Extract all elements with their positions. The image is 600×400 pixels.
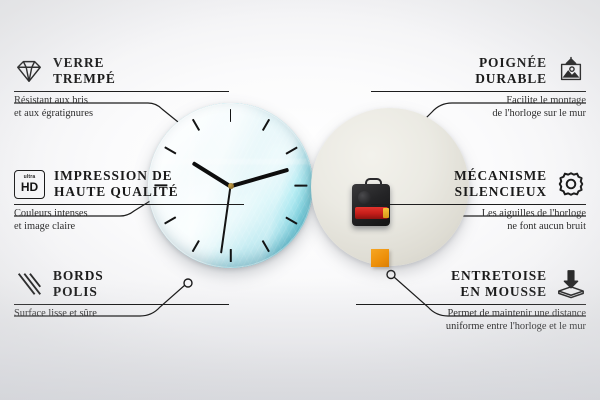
feature-header: MÉCANISME SILENCIEUX — [371, 168, 586, 200]
feature-description: Permet de maintenir une distance uniform… — [356, 308, 586, 333]
feature-header: ENTRETOISE EN MOUSSE — [356, 268, 586, 300]
title-rule — [14, 304, 229, 305]
gear-icon — [556, 169, 586, 199]
feature-description: Surface lisse et sûre — [14, 308, 229, 321]
title-rule — [14, 204, 244, 205]
foam-spacer-pad — [371, 249, 389, 267]
feature-title: BORDS POLIS — [53, 268, 104, 300]
feature-header: ultra HD IMPRESSION DE HAUTE QUALITÉ — [14, 168, 244, 200]
feature-header: VERRE TREMPÉ — [14, 55, 229, 87]
feature-title: MÉCANISME SILENCIEUX — [454, 168, 547, 200]
feature-description: Facilite le montage de l'horloge sur le … — [371, 95, 586, 120]
feature-title: ENTRETOISE EN MOUSSE — [451, 268, 547, 300]
ultra-hd-badge-icon: ultra HD — [14, 170, 45, 199]
feature-description: Résistant aux bris et aux égratignures — [14, 95, 229, 120]
hour-marker — [230, 249, 232, 262]
feature-title: POIGNÉE DURABLE — [475, 55, 547, 87]
foam-spacer-arrow-icon — [556, 269, 586, 299]
title-rule — [371, 204, 586, 205]
polished-edges-icon — [14, 269, 44, 299]
product-infographic: VERRE TREMPÉ Résistant aux bris et aux é… — [0, 0, 600, 400]
feature-header: POIGNÉE DURABLE — [371, 55, 586, 87]
feature-header: BORDS POLIS — [14, 268, 229, 300]
title-rule — [371, 91, 586, 92]
diamond-icon — [14, 56, 44, 86]
hanging-frame-icon — [556, 56, 586, 86]
feature-title: IMPRESSION DE HAUTE QUALITÉ — [54, 168, 178, 200]
feature-mecanisme-silencieux: MÉCANISME SILENCIEUX Les aiguilles de l'… — [371, 168, 586, 233]
mechanism-dial — [358, 191, 371, 204]
hour-marker — [230, 109, 232, 122]
feature-title: VERRE TREMPÉ — [53, 55, 116, 87]
title-rule — [14, 91, 229, 92]
feature-description: Couleurs intenses et image claire — [14, 208, 244, 233]
feature-impression-haute-qualite: ultra HD IMPRESSION DE HAUTE QUALITÉ Cou… — [14, 168, 244, 233]
feature-verre-trempe: VERRE TREMPÉ Résistant aux bris et aux é… — [14, 55, 229, 120]
title-rule — [356, 304, 586, 305]
feature-description: Les aiguilles de l'horloge ne font aucun… — [371, 208, 586, 233]
hour-marker — [294, 185, 307, 187]
feature-poignee-durable: POIGNÉE DURABLE Facilite le montage de l… — [371, 55, 586, 120]
feature-entretoise-en-mousse: ENTRETOISE EN MOUSSE Permet de maintenir… — [356, 268, 586, 333]
feature-bords-polis: BORDS POLIS Surface lisse et sûre — [14, 268, 229, 321]
